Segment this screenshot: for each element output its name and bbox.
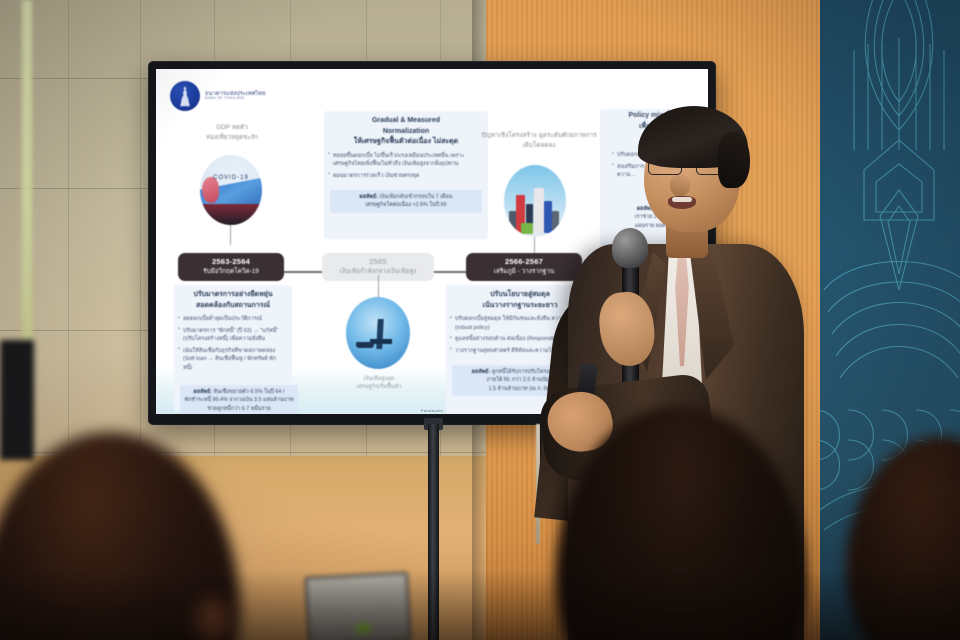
col1-result-label: ผลลัพธ์:: [194, 389, 212, 395]
col1-bullet: เน้นให้สินเชื่อกับธุรกิจที่ขาดสภาพคล่อง …: [183, 347, 285, 373]
org-name-en: BANK OF THAILAND: [205, 97, 266, 101]
node1-sub: รับมือวิกฤตโควิด-19: [185, 268, 277, 277]
node2-year: 2565: [329, 257, 427, 268]
col1-panel-title: ปรับมาตรการอย่างยืดหยุ่น สอดคล้องกับสถาน…: [174, 285, 292, 313]
col2-panel-title: Gradual & Measured Normalization ให้เศรษ…: [324, 111, 488, 150]
col2-image-caption: เงินเฟ้อสูงสุด เศรษฐกิจเริ่มฟื้นตัว: [334, 375, 424, 392]
col2-result-text: เงินเฟ้อกลับเข้ากรอบใน 7 เดือน เศรษฐกิจโ…: [365, 194, 452, 208]
col2-result-label: ผลลัพธ์:: [360, 194, 378, 200]
bank-of-thailand-logo: ธนาคารแห่งประเทศไทย BANK OF THAILAND: [170, 81, 266, 111]
timeline-node-2563-2564[interactable]: 2563-2564 รับมือวิกฤตโควิด-19: [178, 253, 284, 281]
covid-image-caption: COVID-19: [200, 175, 262, 181]
photo-scene: ธนาคารแห่งประเทศไทย BANK OF THAILAND GDP…: [0, 0, 960, 640]
oil-rig-photo-icon: [346, 297, 410, 369]
presenter-hair-side: [718, 132, 750, 188]
col2-result-box: ผลลัพธ์: เงินเฟ้อกลับเข้ากรอบใน 7 เดือน …: [330, 190, 482, 213]
covid-vaccine-photo-icon: COVID-19: [200, 155, 262, 225]
bank-of-thailand-seal-icon: [170, 81, 200, 111]
col2-bullet: ทยอยขึ้นดอกเบี้ย ไม่ขึ้นเร็ว/แรงเหมือนปร…: [333, 152, 481, 169]
col2-panel: Gradual & Measured Normalization ให้เศรษ…: [324, 111, 488, 239]
node1-year: 2563-2564: [185, 257, 277, 268]
col1-heading: GDP หดตัว ท่องเที่ยวหยุดชะงัก: [178, 123, 286, 142]
tv-brand-label: Panasonic: [421, 408, 443, 413]
col3-result-label: ผลลัพธ์:: [472, 369, 490, 375]
col1-bullet: ปรับมาตรการ "พักหนี้" (ปี 63) → "แก้หนี้…: [183, 327, 285, 344]
presenter-mouth: [668, 196, 696, 209]
foreground-shadow: [0, 570, 960, 640]
col1-result-box: ผลลัพธ์: สินเชื่อขยายตัว 6.5% ในปี 64 / …: [180, 385, 298, 414]
handheld-microphone-icon: [612, 228, 648, 268]
presenter-nose: [670, 174, 690, 196]
foreground-equipment-box: [0, 340, 34, 460]
col1-bullet: ลดดอกเบี้ยต่ำสุดเป็นประวัติการณ์: [183, 315, 285, 324]
col2-bullet: ผ่อนมาตรการรวดเร็ว เงินช่วยตรงจุด: [333, 172, 481, 181]
